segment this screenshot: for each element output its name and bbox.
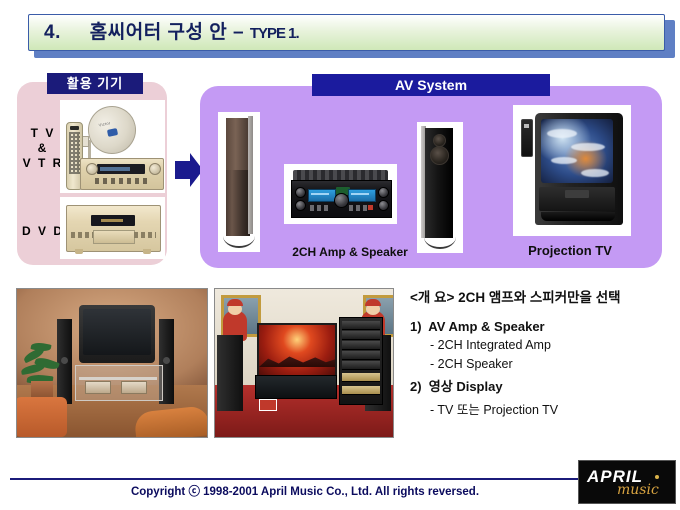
- photo-component-left: [85, 381, 111, 394]
- photo-sofa: [16, 397, 67, 437]
- tower-speaker-right-photo: [417, 122, 463, 253]
- summary-item-2-sub-1: - TV 또는 Projection TV: [430, 399, 676, 418]
- photo-tv-screen: [83, 309, 151, 355]
- summary-block: <개 요> 2CH 앰프와 스피커만을 선택 1) AV Amp & Speak…: [410, 286, 676, 423]
- projection-tv-speaker-grille: [539, 187, 615, 211]
- remote-top-button: [70, 126, 79, 130]
- speaker-cabinet: [226, 118, 250, 236]
- photo-component-right: [121, 381, 147, 394]
- dvd-buttons-left: [71, 232, 93, 238]
- page-title: 4. 홈씨어터 구성 안 – TYPE 1.: [44, 18, 644, 48]
- amplifier-front-panel: [291, 180, 392, 218]
- summary-heading: <개 요> 2CH 앰프와 스피커만을 선택: [410, 286, 676, 306]
- screen-cloud: [551, 157, 577, 164]
- projection-tv-cabinet: [535, 113, 623, 225]
- rack-unit: [342, 361, 380, 370]
- rack-unit-gold: [342, 386, 380, 395]
- dvd-disc-tray: [93, 230, 135, 244]
- dish-brand-text: Victor: [98, 120, 111, 127]
- photo-screen-mountains: [259, 351, 335, 367]
- footer-copyright: Copyright ⓒ 1998-2001 April Music Co., L…: [10, 483, 600, 499]
- photo-stand-shelf: [79, 377, 157, 380]
- amplifier-meter-right: [348, 189, 376, 202]
- amplifier-buttons-left: [310, 205, 330, 211]
- amplifier-power-indicator: [368, 205, 373, 210]
- title-number: 4.: [44, 22, 61, 43]
- amplifier-photo: [284, 164, 397, 224]
- amplifier-knob-tr: [378, 187, 389, 198]
- rack-unit: [342, 331, 380, 340]
- dvd-player-icon: [66, 205, 161, 252]
- speaker-side-panel: [248, 116, 253, 234]
- photo-speaker-left: [217, 335, 243, 411]
- amplifier-volume-knob: [334, 193, 349, 208]
- home-theater-room-photo: [214, 288, 394, 438]
- footer-divider: [10, 478, 600, 480]
- rack-unit: [342, 321, 380, 330]
- photo-brand-badge: [259, 399, 277, 411]
- projection-tv-photo: [513, 105, 631, 236]
- satellite-dish-icon: Victor: [84, 102, 141, 159]
- amplifier-buttons-right: [349, 205, 367, 211]
- dvd-foot-right: [143, 249, 151, 254]
- amplifier-knob-br: [378, 200, 389, 211]
- photo-screen-base: [255, 375, 337, 399]
- av-system-label: AV System: [312, 74, 550, 96]
- speaker-midrange: [430, 146, 449, 165]
- photo-plant-pot: [31, 381, 53, 397]
- av-receiver-icon: [80, 158, 164, 190]
- projection-tv-caption: Projection TV: [490, 243, 650, 258]
- rack-unit-gold: [342, 373, 380, 382]
- speaker-cabinet: [425, 128, 453, 238]
- device-panel-label: 활용 기기: [47, 73, 143, 94]
- title-main: 홈씨어터 구성 안 –: [90, 22, 244, 43]
- tv-vtr-equipment-photo: Victor: [60, 100, 165, 193]
- screen-cloud: [581, 169, 609, 177]
- receiver-knob-right: [149, 163, 161, 175]
- photo-big-screen: [257, 323, 337, 379]
- projection-tv-control-panel: [565, 190, 589, 198]
- rack-unit: [342, 341, 380, 350]
- projection-tv-base: [541, 212, 615, 221]
- summary-item-2-label: 2) 영상 Display: [410, 376, 676, 395]
- summary-item-1-label: 1) AV Amp & Speaker: [410, 319, 676, 334]
- projection-tv-screen: [541, 119, 613, 183]
- summary-item-1-sub-1: - 2CH Integrated Amp: [430, 338, 676, 352]
- receiver-knob-left: [86, 163, 98, 175]
- screen-cloud: [571, 143, 605, 151]
- tower-speaker-left-photo: [218, 112, 260, 252]
- living-room-photo: [16, 288, 208, 438]
- title-type: TYPE 1.: [250, 25, 299, 42]
- remote-keypad: [69, 132, 80, 174]
- receiver-button-row: [95, 178, 151, 184]
- amplifier-meter-left: [308, 189, 336, 202]
- dish-logo: [107, 128, 118, 137]
- dvd-foot-left: [75, 249, 83, 254]
- photo-equipment-rack: [339, 317, 383, 405]
- receiver-display: [97, 164, 145, 174]
- tv-remote-icon: [521, 119, 533, 157]
- photo-television: [79, 305, 155, 363]
- april-music-logo: APRIL music: [578, 460, 676, 504]
- dvd-buttons-right: [134, 232, 156, 238]
- flow-arrow-icon: [175, 153, 203, 187]
- rack-unit: [342, 351, 380, 360]
- dvd-player-photo: [60, 197, 165, 259]
- amp-speaker-caption: 2CH Amp & Speaker: [250, 245, 450, 259]
- dvd-display: [91, 215, 135, 226]
- logo-secondary-text: music: [617, 482, 659, 498]
- screen-cloud: [547, 129, 577, 138]
- amplifier-knob-bl: [295, 200, 306, 211]
- summary-item-1-sub-2: - 2CH Speaker: [430, 357, 676, 371]
- amplifier-knob-tl: [295, 187, 306, 198]
- logo-dot: [655, 475, 659, 479]
